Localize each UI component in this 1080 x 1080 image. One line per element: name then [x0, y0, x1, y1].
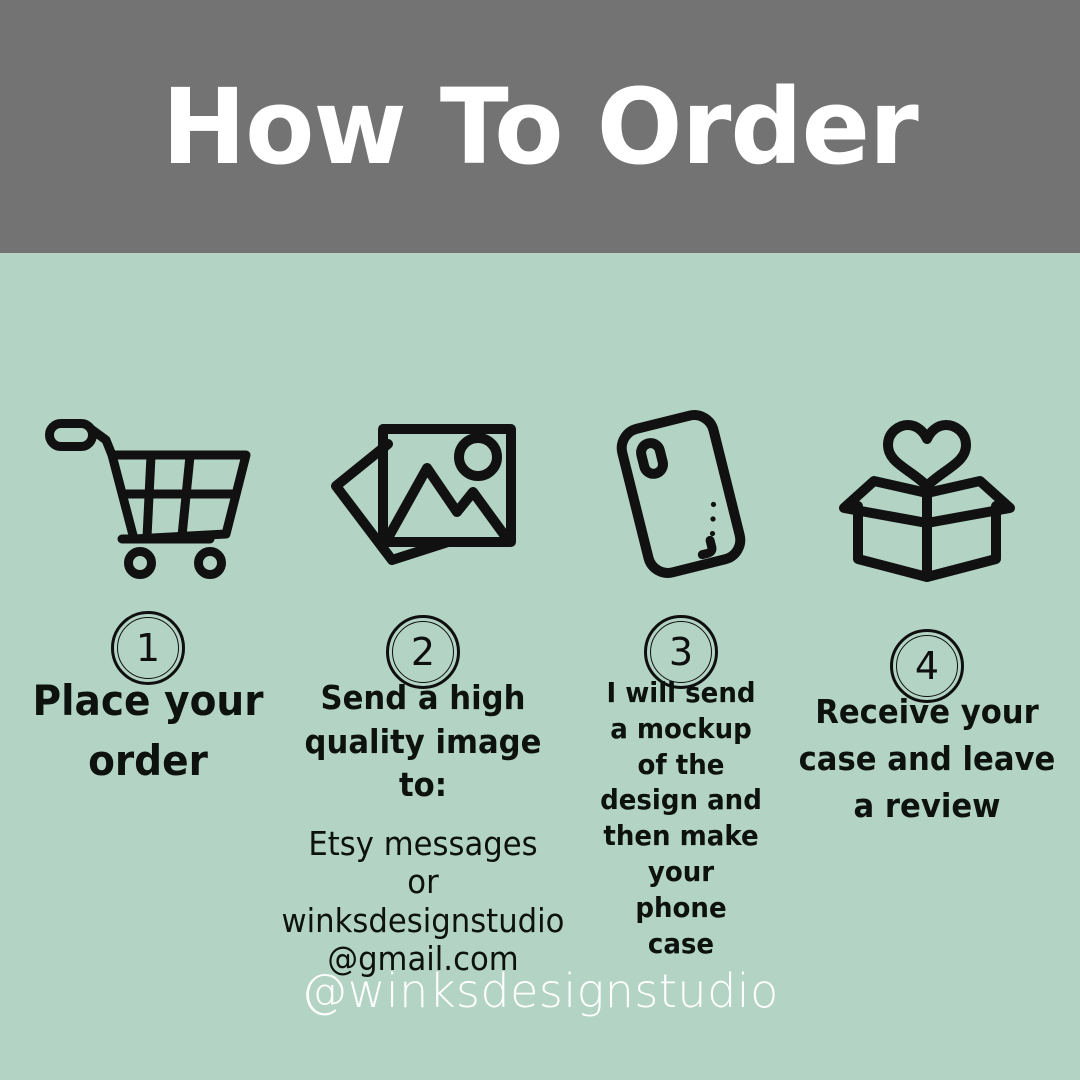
photo-stack-icon	[330, 420, 516, 578]
step-1-icon-wrap	[8, 411, 288, 581]
step-1-text: Place your order	[8, 671, 288, 790]
shopping-cart-icon	[44, 418, 252, 581]
phone-case-icon	[606, 408, 756, 580]
page-title: How To Order	[162, 75, 918, 179]
step-1-headline: Place your order	[18, 671, 278, 790]
step-2-icon-wrap	[268, 418, 578, 578]
step-3-icon-wrap	[592, 405, 770, 580]
step-4-headline: Receive your case and leave a review	[792, 689, 1062, 830]
steps-row: 1 Place your order	[0, 253, 1080, 1080]
poster-canvas: How To Order	[0, 0, 1080, 1080]
step-3-headline: I will send a mockup of the design and t…	[598, 675, 764, 962]
step-2-headline: Send a high quality image to:	[279, 676, 567, 807]
step-4-text: Receive your case and leave a review	[782, 689, 1072, 830]
shop-handle: @winksdesignstudio	[0, 968, 1080, 1014]
gift-box-heart-icon	[838, 419, 1016, 583]
step-3-text: I will send a mockup of the design and t…	[592, 675, 770, 962]
step-2-contact: Etsy messages or winksdesignstudio @gmai…	[279, 825, 567, 979]
header-banner: How To Order	[0, 0, 1080, 253]
step-2-text: Send a high quality image to: Etsy messa…	[268, 676, 578, 979]
step-4-icon-wrap	[782, 415, 1072, 583]
